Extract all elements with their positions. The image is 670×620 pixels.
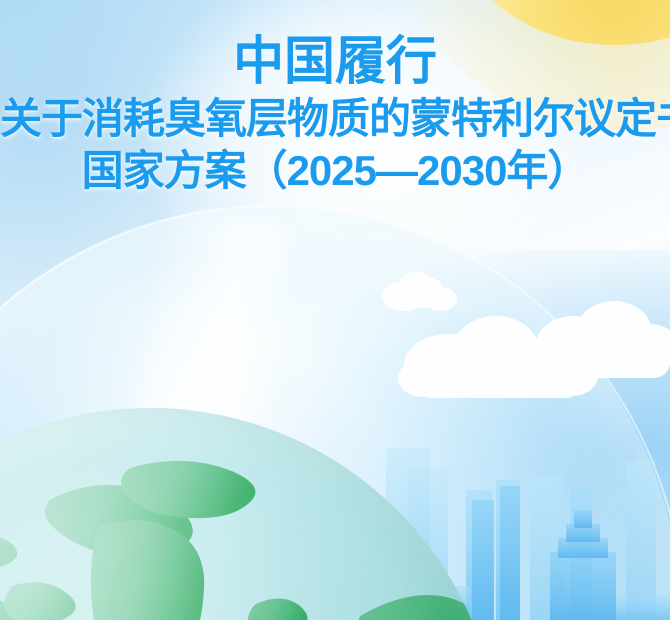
earth-globe-icon: [0, 408, 500, 620]
poster-title-line-3: 国家方案（2025—2030年）: [0, 148, 670, 193]
ozone-dome: [0, 205, 670, 620]
poster-canvas: 中国履行 关于消耗臭氧层物质的蒙特利尔议定书 国家方案（2025—2030年）: [0, 0, 670, 620]
sky-gradient-lower: [0, 300, 400, 620]
sky-gradient-right: [270, 250, 670, 620]
ozone-dome-sheen: [90, 208, 290, 620]
cloud-medium-icon: [530, 288, 670, 388]
ozone-dome-rim: [0, 205, 670, 620]
city-skyline-icon: [380, 390, 670, 620]
poster-title-block: 中国履行 关于消耗臭氧层物质的蒙特利尔议定书 国家方案（2025—2030年）: [0, 34, 670, 193]
cloud-large-icon: [398, 300, 598, 410]
poster-title-line-2: 关于消耗臭氧层物质的蒙特利尔议定书: [0, 96, 670, 141]
poster-title-line-1: 中国履行: [7, 34, 664, 90]
cloud-small-icon: [378, 268, 462, 314]
